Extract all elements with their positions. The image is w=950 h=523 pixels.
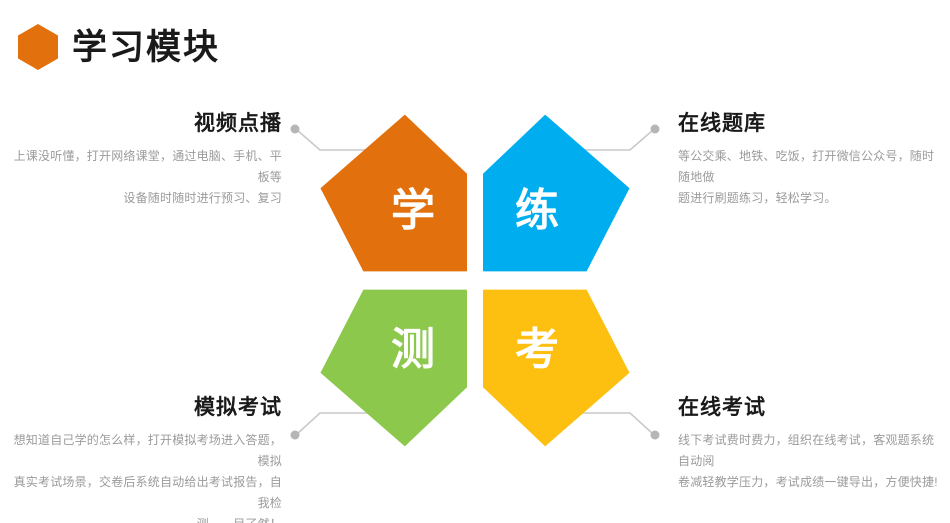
- page-title: 学习模块: [18, 24, 220, 70]
- block-video-desc-line1: 上课没听懂，打开网络课堂，通过电脑、手机、平板等: [4, 146, 282, 188]
- block-bank-desc-line2: 题进行刷题练习，轻松学习。: [678, 188, 946, 209]
- connector-dot-top-right: [651, 125, 660, 134]
- tile-xue[interactable]: 学: [319, 113, 467, 273]
- hexagon-icon: [18, 24, 58, 70]
- connector-dot-bottom-right: [651, 431, 660, 440]
- diagram-cluster: 学 练 测 考: [319, 113, 631, 466]
- block-exam-desc-line2: 卷减轻教学压力，考试成绩一键导出，方便快捷!: [678, 472, 946, 493]
- block-mock-desc-line1: 想知道自己学的怎么样，打开模拟考场进入答题，模拟: [4, 430, 282, 472]
- tile-ce[interactable]: 测: [319, 288, 467, 448]
- block-bank-title: 在线题库: [678, 112, 946, 135]
- block-mock-desc-line2: 真实考试场景，交卷后系统自动给出考试报告，自我检: [4, 472, 282, 514]
- page-title-label: 学习模块: [72, 30, 220, 65]
- block-mock-desc-line3: 测，一目了然！: [4, 514, 282, 523]
- tile-lian[interactable]: 练: [483, 113, 631, 273]
- block-exam-title: 在线考试: [678, 396, 946, 419]
- connector-dot-top-left: [291, 125, 300, 134]
- tile-ce-glyph: 测: [391, 328, 435, 372]
- connector-dot-bottom-left: [291, 431, 300, 440]
- block-online-exam: 在线考试 线下考试费时费力，组织在线考试，客观题系统自动阅 卷减轻教学压力，考试…: [678, 396, 946, 493]
- slide-canvas: 学习模块 学 练 测 考 视频点播 上课没听懂，打开网络课堂，通过电脑: [0, 0, 950, 523]
- tile-lian-glyph: 练: [515, 189, 559, 233]
- block-exam-desc-line1: 线下考试费时费力，组织在线考试，客观题系统自动阅: [678, 430, 946, 472]
- block-online-question-bank: 在线题库 等公交乘、地铁、吃饭，打开微信公众号，随时随地做 题进行刷题练习，轻松…: [678, 112, 946, 209]
- block-video-title: 视频点播: [4, 112, 282, 135]
- block-bank-desc-line1: 等公交乘、地铁、吃饭，打开微信公众号，随时随地做: [678, 146, 946, 188]
- block-video-desc-line2: 设备随时随时进行预习、复习: [4, 188, 282, 209]
- block-mock-exam: 模拟考试 想知道自己学的怎么样，打开模拟考场进入答题，模拟 真实考试场景，交卷后…: [4, 396, 282, 523]
- tile-kao-glyph: 考: [515, 328, 559, 372]
- tile-xue-glyph: 学: [391, 189, 435, 233]
- block-mock-title: 模拟考试: [4, 396, 282, 419]
- block-video-on-demand: 视频点播 上课没听懂，打开网络课堂，通过电脑、手机、平板等 设备随时随时进行预习…: [4, 112, 282, 209]
- tile-kao[interactable]: 考: [483, 288, 631, 448]
